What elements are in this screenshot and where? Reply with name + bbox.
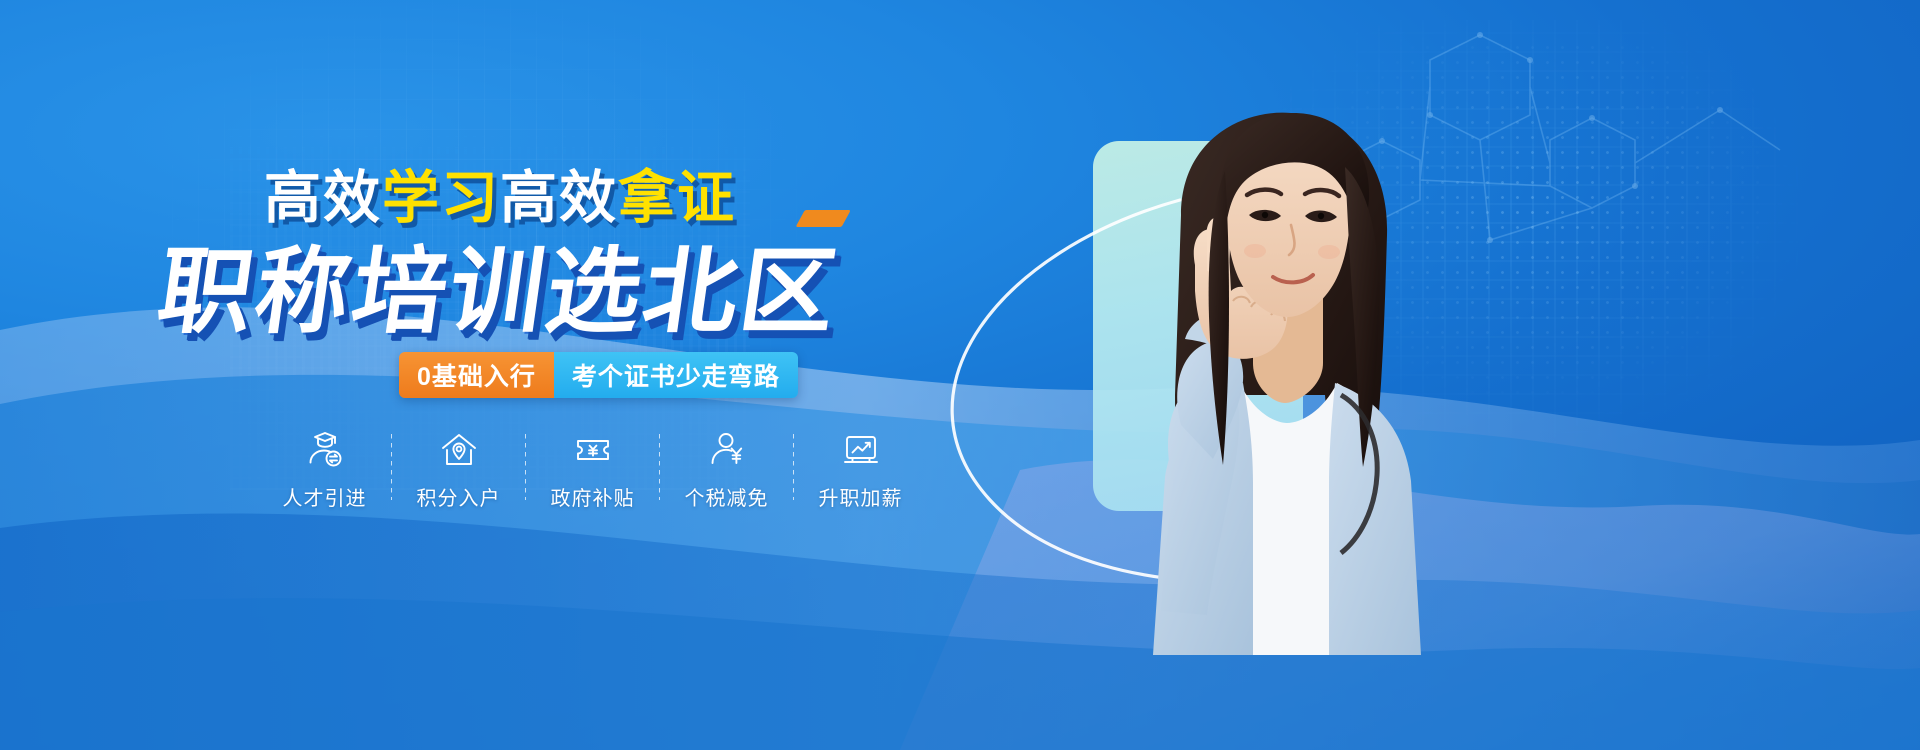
tagline-secondary: 考个证书少走弯路 bbox=[554, 352, 798, 398]
feature-label: 人才引进 bbox=[283, 482, 367, 511]
feature-label: 积分入户 bbox=[417, 482, 501, 511]
promo-banner: 高效学习高效拿证 职称培训选北区 0基础入行 考个证书少走弯路 bbox=[0, 0, 1920, 750]
feature-list: 人才引进 积分入户 bbox=[258, 428, 927, 511]
graduate-talent-icon bbox=[304, 428, 346, 472]
feature-item-tax[interactable]: 个税减免 bbox=[660, 428, 793, 511]
tagline-primary: 0基础入行 bbox=[399, 352, 554, 398]
headline-text: 职称培训选北区 bbox=[152, 239, 846, 344]
feature-item-residency[interactable]: 积分入户 bbox=[392, 428, 525, 511]
home-location-icon bbox=[438, 428, 480, 472]
headline-wrap: 职称培训选北区 bbox=[0, 216, 1000, 352]
feature-label: 个税减免 bbox=[685, 482, 769, 511]
ticket-subsidy-icon bbox=[572, 428, 614, 472]
feature-label: 升职加薪 bbox=[819, 482, 903, 511]
tagline-pill: 0基础入行 考个证书少走弯路 bbox=[399, 352, 798, 398]
presenter-photo bbox=[985, 95, 1455, 655]
feature-item-subsidy[interactable]: 政府补贴 bbox=[526, 428, 659, 511]
feature-item-talent[interactable]: 人才引进 bbox=[258, 428, 391, 511]
headline: 职称培训选北区 bbox=[151, 216, 849, 352]
chart-growth-icon bbox=[840, 428, 882, 472]
feature-label: 政府补贴 bbox=[551, 482, 635, 511]
orange-dash-accent-icon bbox=[796, 210, 851, 227]
feature-item-promotion[interactable]: 升职加薪 bbox=[794, 428, 927, 511]
person-yuan-icon bbox=[706, 428, 748, 472]
